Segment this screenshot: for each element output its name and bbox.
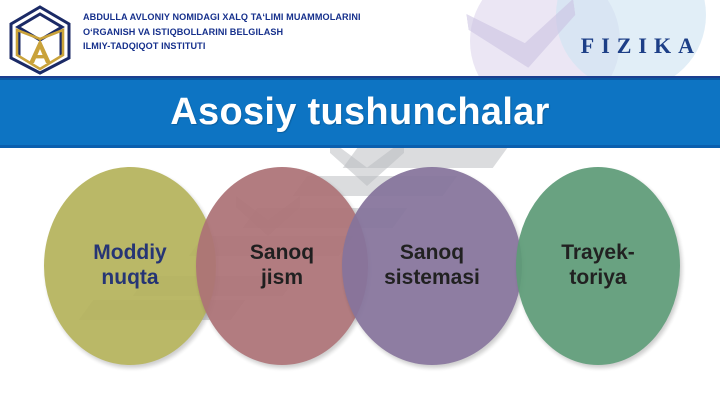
concept-circle-group: Moddiy nuqta Sanoq jism Sanoq sistemasi … bbox=[0, 0, 720, 405]
title-banner: Asosiy tushunchalar bbox=[0, 78, 720, 148]
concept-label: Sanoq sistemasi bbox=[384, 241, 480, 291]
concept-circle-trayektoriya[interactable]: Trayek- toriya bbox=[516, 167, 680, 365]
concept-label: Sanoq jism bbox=[250, 241, 314, 291]
slide: ABDULLA AVLONIY NOMIDAGI XALQ TA‘LIMI MU… bbox=[0, 0, 720, 405]
concept-circle-sanoq-sistemasi[interactable]: Sanoq sistemasi bbox=[342, 167, 522, 365]
page-title: Asosiy tushunchalar bbox=[170, 91, 549, 134]
concept-label: Trayek- toriya bbox=[561, 241, 635, 291]
concept-circle-moddiy-nuqta[interactable]: Moddiy nuqta bbox=[44, 167, 216, 365]
concept-label: Moddiy nuqta bbox=[93, 241, 167, 291]
